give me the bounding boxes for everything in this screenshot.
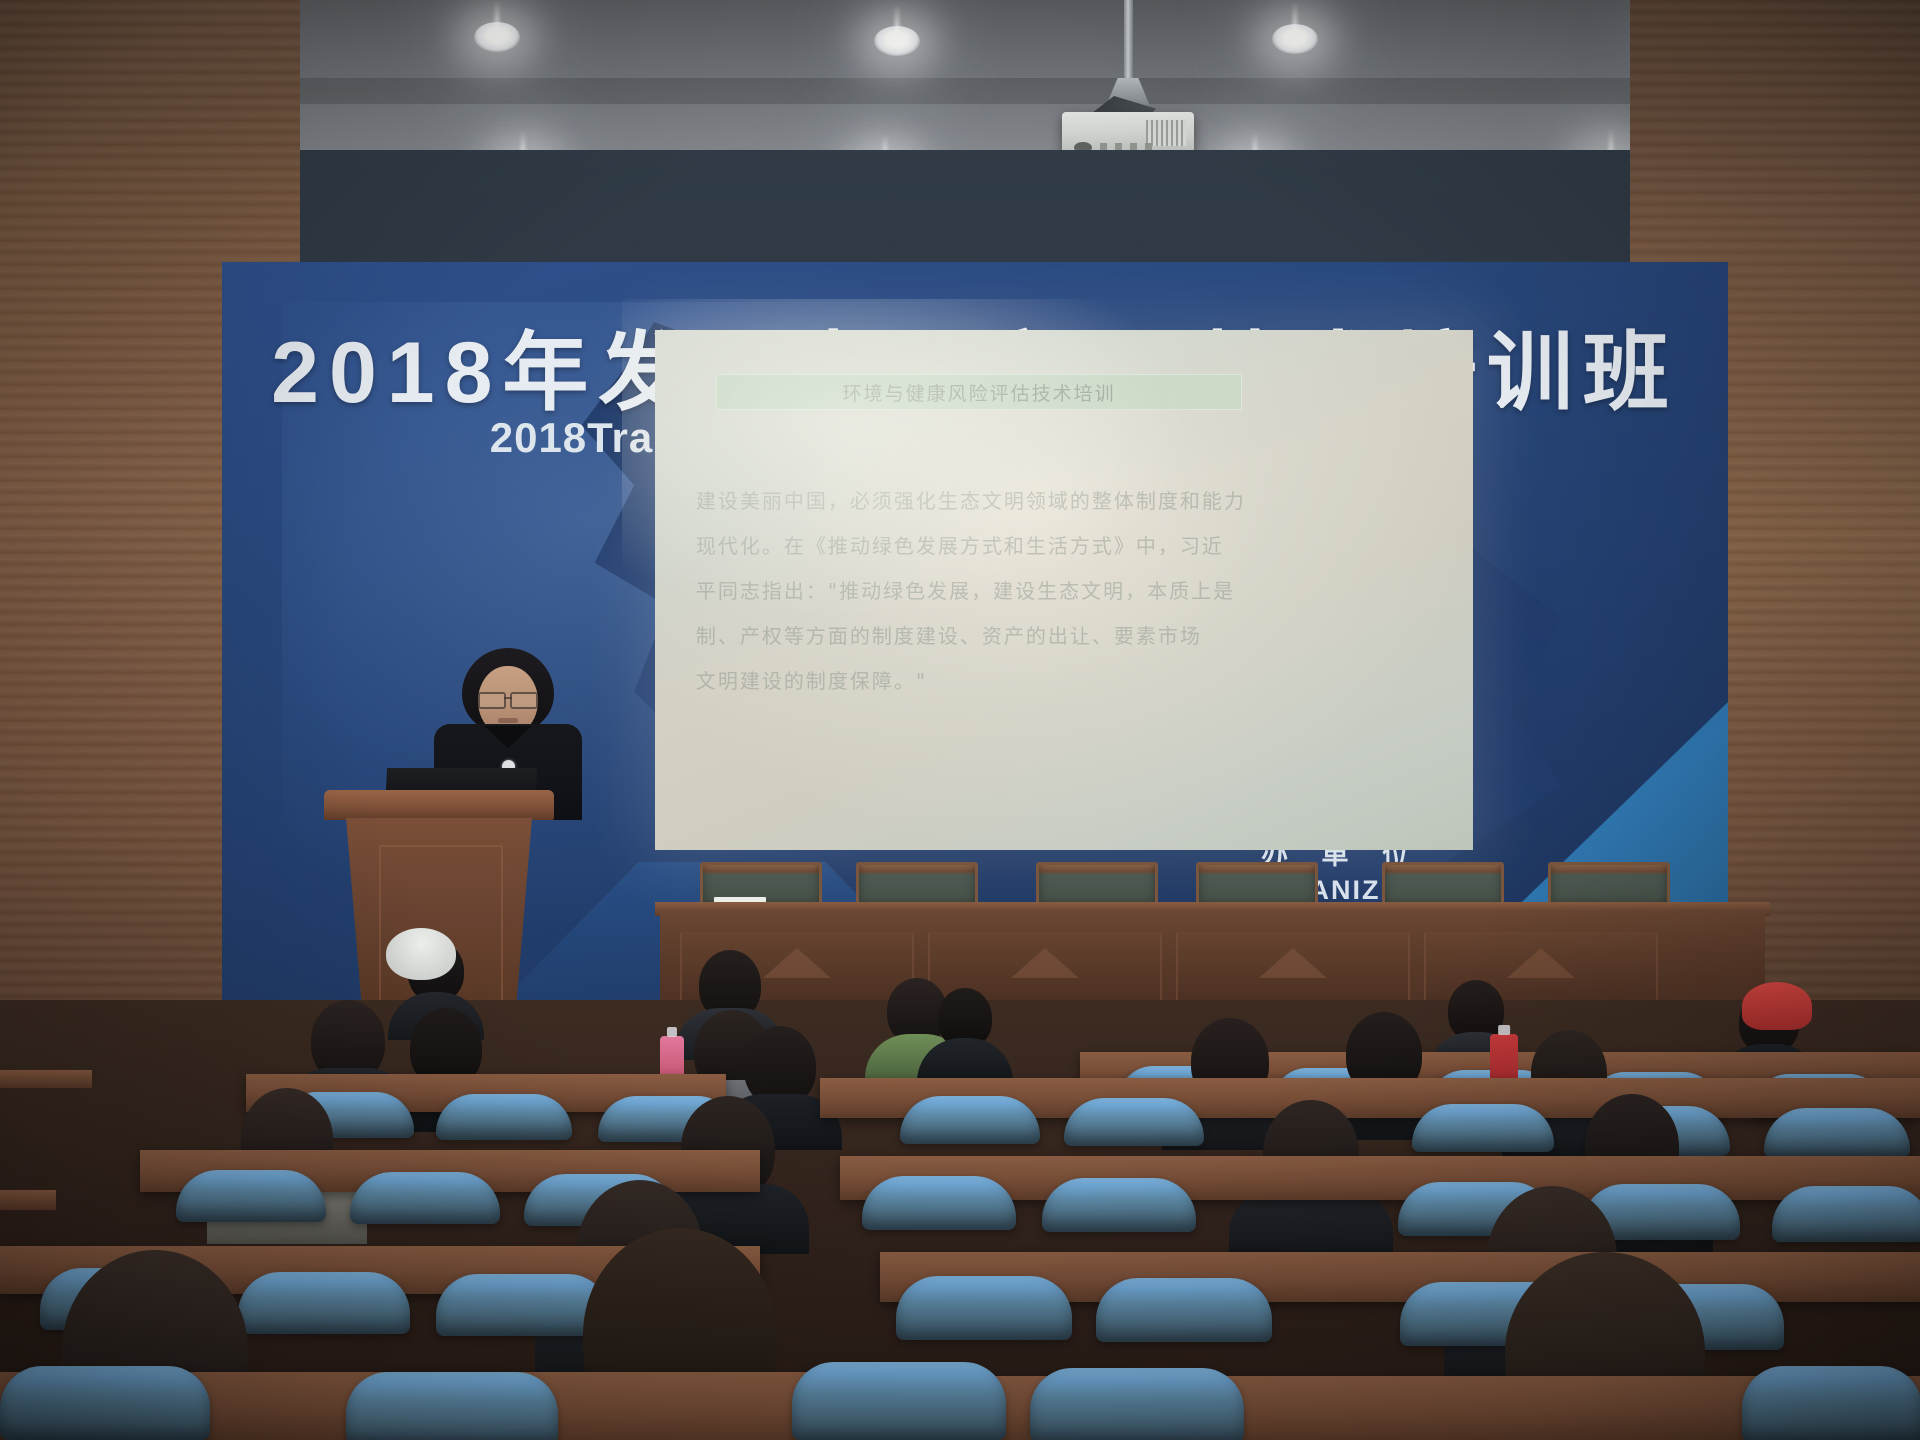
audience-seat [350,1172,500,1224]
audience-seat [1412,1104,1554,1152]
slide-title-text: 环境与健康风险评估技术培训 [843,379,1116,406]
aisle-rail [0,1070,92,1088]
white-cap [386,928,456,980]
slide-line: 平同志指出："推动绿色发展，建设生态文明，本质上是 [696,576,1416,607]
slide-title-band: 环境与健康风险评估技术培训 [716,374,1242,410]
slide-line: 文明建设的制度保障。" [696,666,1416,697]
lecture-hall-photo: 2018年发展中国家××技术培训班 2018Training Course fo… [0,0,1920,1440]
presenter-mouth [498,718,518,723]
ceiling-light [874,26,920,56]
audience-seat [1064,1098,1204,1146]
audience-seat [0,1366,210,1440]
projection-screen: 环境与健康风险评估技术培训 建设美丽中国，必须强化生态文明领域的整体制度和能力 … [655,330,1473,850]
red-beanie [1742,982,1812,1030]
slide-line: 建设美丽中国，必须强化生态文明领域的整体制度和能力 [696,486,1416,517]
projector-mount-pole [1124,0,1133,84]
audience-seat [862,1176,1016,1230]
audience-seat [436,1094,572,1140]
audience-member [930,988,1000,1078]
podium-top [324,790,554,820]
ceiling-light [1272,24,1318,54]
audience-seat [1742,1366,1920,1440]
slide-line: 现代化。在《推动绿色发展方式和生活方式》中，习近 [696,531,1416,562]
audience-seat [792,1362,1006,1440]
audience-seat [896,1276,1072,1340]
audience-seat [900,1096,1040,1144]
slide-body-text: 建设美丽中国，必须强化生态文明领域的整体制度和能力 现代化。在《推动绿色发展方式… [696,486,1416,711]
ceiling-light [474,22,520,52]
audience-seat [1042,1178,1196,1232]
audience-seat [1030,1368,1244,1440]
audience-seat [1764,1108,1910,1158]
audience-seat [346,1372,558,1440]
slide-line: 制、产权等方面的制度建设、资产的出让、要素市场 [696,621,1416,652]
audience-seat [1096,1278,1272,1342]
aisle-rail [0,1190,56,1210]
audience-seat [1772,1186,1920,1242]
glasses-icon [478,692,538,705]
stage-desk-panel [1176,932,1410,1008]
audience-seat [176,1170,326,1222]
